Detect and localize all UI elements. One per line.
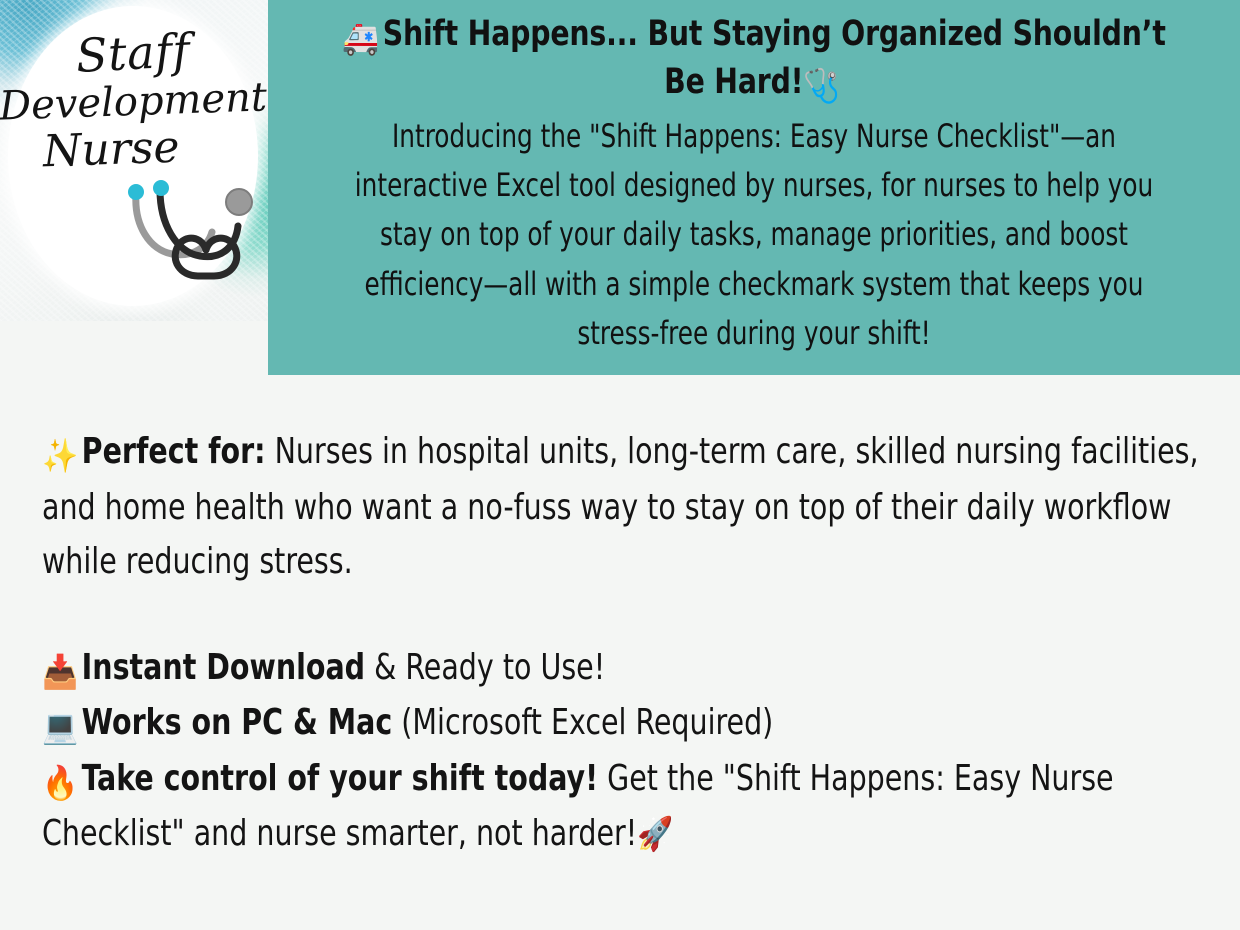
bullet-0-bold: Instant Download (82, 647, 365, 688)
banner-body: Introducing the "Shift Happens: Easy Nur… (352, 112, 1157, 358)
bullet-2-bold: Take control of your shift today! (82, 758, 598, 799)
brand-logo: Staff Development Nurse (0, 0, 268, 321)
bullet-take-control: 🔥Take control of your shift today! Get t… (42, 752, 1222, 862)
perfect-for-label: Perfect for: (82, 431, 266, 472)
banner-heading: 🚑Shift Happens... But Staying Organized … (333, 12, 1175, 108)
bullet-instant-download: 📥Instant Download & Ready to Use! (42, 641, 1222, 697)
sparkles-icon: ✨ (42, 431, 78, 481)
top-banner: Staff Development Nurse 🚑Shift Happens..… (0, 0, 1240, 375)
inbox-tray-icon: 📥 (42, 647, 78, 697)
bullet-works-on-pc-mac: 💻Works on PC & Mac (Microsoft Excel Requ… (42, 696, 1222, 752)
ambulance-icon: 🚑 (342, 17, 379, 60)
banner-heading-text: Shift Happens... But Staying Organized S… (383, 14, 1166, 102)
stethoscope-heart-icon (120, 180, 260, 305)
bullet-1-bold: Works on PC & Mac (82, 702, 393, 743)
laptop-icon: 💻 (42, 702, 78, 752)
main-copy: ✨Perfect for: Nurses in hospital units, … (42, 425, 1222, 861)
rocket-icon: 🚀 (637, 814, 673, 853)
stethoscope-icon: 🩺 (803, 65, 840, 108)
bullet-0-rest: & Ready to Use! (365, 647, 605, 688)
bullet-1-rest: (Microsoft Excel Required) (392, 702, 773, 743)
fire-icon: 🔥 (42, 758, 78, 808)
perfect-for-paragraph: ✨Perfect for: Nurses in hospital units, … (42, 425, 1222, 589)
headline-panel: 🚑Shift Happens... But Staying Organized … (268, 0, 1240, 375)
